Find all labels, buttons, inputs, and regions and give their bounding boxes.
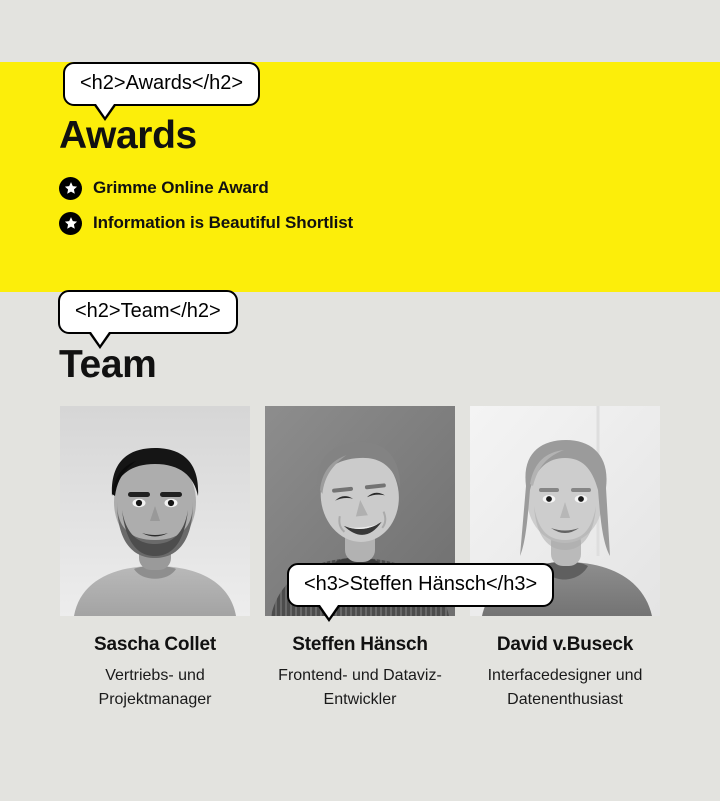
awards-list: Grimme Online Award Information is Beaut… xyxy=(59,176,353,246)
member-name: Steffen Hänsch xyxy=(265,634,455,656)
member-role: Frontend- und Dataviz-Entwickler xyxy=(265,664,455,712)
code-label-h2-awards: <h2>Awards</h2> xyxy=(63,62,260,106)
member-name: Sascha Collet xyxy=(60,634,250,656)
team-member-grid: Sascha Collet Vertriebs- und Projektmana… xyxy=(60,406,660,712)
list-item: Grimme Online Award xyxy=(59,176,353,200)
code-label-h2-team: <h2>Team</h2> xyxy=(58,290,238,334)
member-role: Interfacedesigner und Datenenthusiast xyxy=(470,664,660,712)
star-in-circle-icon xyxy=(59,212,82,235)
code-label-text: <h2>Awards</h2> xyxy=(80,72,243,94)
bubble-tail-fill xyxy=(91,332,109,345)
bubble-tail-fill xyxy=(96,104,114,117)
team-member-card: Steffen Hänsch Frontend- und Dataviz-Ent… xyxy=(265,406,455,712)
team-member-card: Sascha Collet Vertriebs- und Projektmana… xyxy=(60,406,250,712)
bubble-tail-fill xyxy=(320,605,338,618)
portrait-sascha-collet xyxy=(60,406,250,616)
award-label: Information is Beautiful Shortlist xyxy=(93,213,353,233)
member-name: David v.Buseck xyxy=(470,634,660,656)
team-heading: Team xyxy=(59,345,156,384)
awards-heading: Awards xyxy=(59,116,197,155)
team-member-card: David v.Buseck Interfacedesigner und Dat… xyxy=(470,406,660,712)
member-role: Vertriebs- und Projektmanager xyxy=(60,664,250,712)
code-label-text: <h2>Team</h2> xyxy=(75,300,221,322)
page-root: { "colors": { "page_background": "#e3e3d… xyxy=(0,0,720,801)
code-label-text: <h3>Steffen Hänsch</h3> xyxy=(304,573,537,595)
award-label: Grimme Online Award xyxy=(93,178,269,198)
code-label-h3-steffen: <h3>Steffen Hänsch</h3> xyxy=(287,563,554,607)
list-item: Information is Beautiful Shortlist xyxy=(59,211,353,235)
star-in-circle-icon xyxy=(59,177,82,200)
